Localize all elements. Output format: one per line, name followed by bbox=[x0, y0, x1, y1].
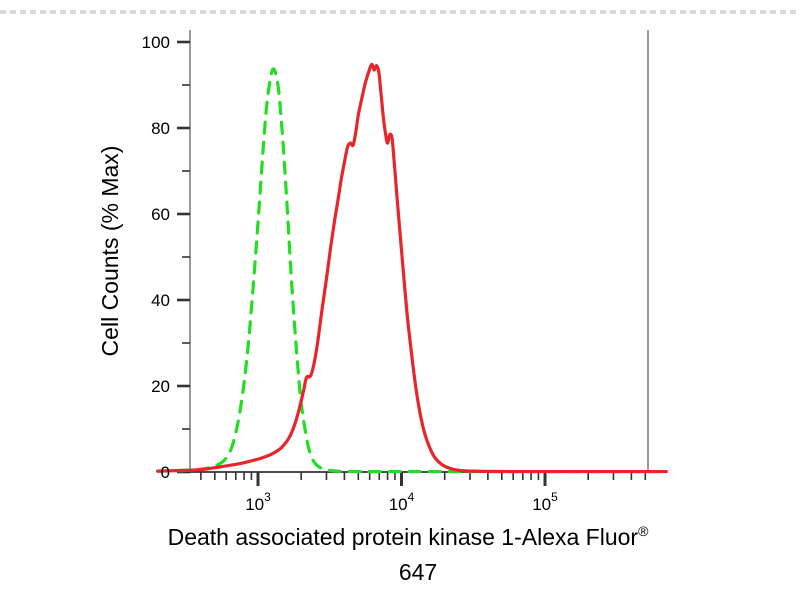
axis-labels-group: 020406080100103104105Cell Counts (% Max)… bbox=[97, 33, 649, 585]
antibody-signal-curve bbox=[158, 64, 667, 471]
top-perforation-decoration bbox=[0, 10, 800, 14]
y-axis-tick-label: 0 bbox=[161, 463, 170, 482]
series-group bbox=[158, 64, 667, 471]
flow-cytometry-figure: 020406080100103104105Cell Counts (% Max)… bbox=[0, 0, 800, 600]
histogram-plot: 020406080100103104105Cell Counts (% Max)… bbox=[0, 0, 800, 600]
x-axis-title-line1: Death associated protein kinase 1-Alexa … bbox=[168, 523, 649, 550]
x-axis-title-line2: 647 bbox=[399, 559, 437, 585]
y-axis-tick-label: 80 bbox=[151, 119, 170, 138]
isotype-control-curve bbox=[158, 69, 667, 472]
x-axis-tick-label: 103 bbox=[245, 490, 271, 514]
axes-group bbox=[177, 30, 648, 486]
y-axis-tick-label: 100 bbox=[142, 33, 170, 52]
y-axis-title: Cell Counts (% Max) bbox=[97, 146, 123, 357]
x-axis-tick-label: 104 bbox=[389, 490, 415, 514]
y-axis-tick-label: 20 bbox=[151, 377, 170, 396]
x-axis-tick-label: 105 bbox=[532, 490, 558, 514]
y-axis-tick-label: 60 bbox=[151, 205, 170, 224]
y-axis-tick-label: 40 bbox=[151, 291, 170, 310]
